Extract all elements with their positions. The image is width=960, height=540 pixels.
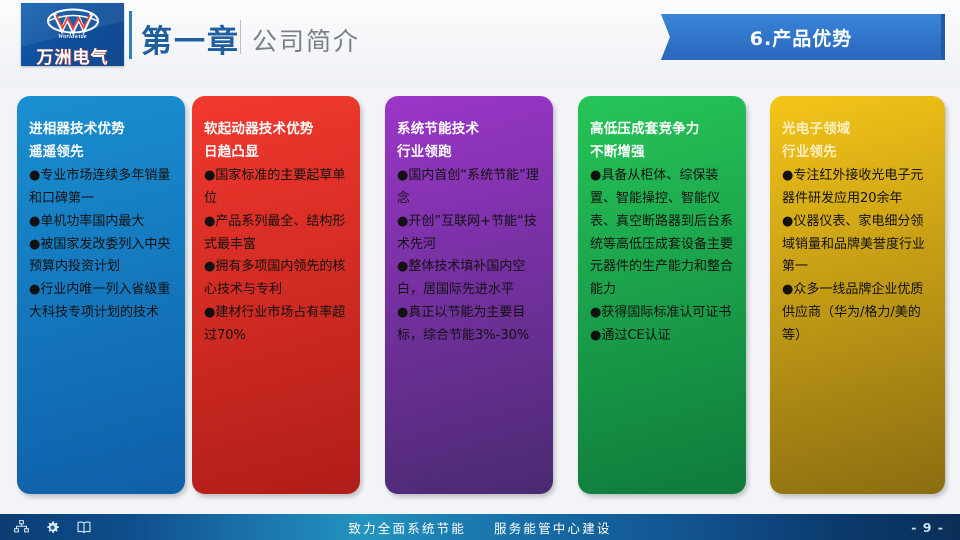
card-title-line: 进相器技术优势	[29, 118, 173, 141]
card-title: 进相器技术优势 遥遥领先	[29, 118, 173, 164]
card-bullet: ●专业市场连续多年销量和口碑第一	[29, 165, 173, 211]
card-title-line: 软起动器技术优势	[204, 118, 348, 141]
card-title: 系统节能技术 行业领跑	[397, 118, 541, 164]
advantage-card: 系统节能技术 行业领跑 ●国内首创“系统节能”理念 ●开创”互联网+节能“技术先…	[385, 96, 553, 494]
card-bullet: ●专注红外接收光电子元器件研发应用20余年	[782, 165, 933, 211]
card-bullet: ●国内首创“系统节能”理念	[397, 165, 541, 211]
card-body: ●专注红外接收光电子元器件研发应用20余年 ●仪器仪表、家电细分领域销量和品牌美…	[782, 165, 933, 347]
card-bullet: ●产品系列最全、结构形式最丰富	[204, 211, 348, 257]
advantage-card-list: 进相器技术优势 遥遥领先 ●专业市场连续多年销量和口碑第一 ●单机功率国内最大 …	[0, 96, 960, 496]
card-body: ●国内首创“系统节能”理念 ●开创”互联网+节能“技术先河 ●整体技术填补国内空…	[397, 165, 541, 347]
card-title: 软起动器技术优势 日趋凸显	[204, 118, 348, 164]
header-accent-bar	[129, 11, 132, 59]
slide-header: Worldwide 万洲电气 第一章 公司简介 6.产品优势	[0, 0, 960, 88]
card-bullet: ●通过CE认证	[590, 325, 734, 348]
card-bullet: ●行业内唯一列入省级重大科技专项计划的技术	[29, 279, 173, 325]
card-bullet: ●开创”互联网+节能“技术先河	[397, 211, 541, 257]
advantage-card: 进相器技术优势 遥遥领先 ●专业市场连续多年销量和口碑第一 ●单机功率国内最大 …	[17, 96, 185, 494]
card-title-line: 遥遥领先	[29, 141, 173, 164]
card-title-line: 系统节能技术	[397, 118, 541, 141]
card-bullet: ●拥有多项国内领先的核心技术与专利	[204, 256, 348, 302]
card-body: ●国家标准的主要起草单位 ●产品系列最全、结构形式最丰富 ●拥有多项国内领先的核…	[204, 165, 348, 347]
card-bullet: ●建材行业市场占有率超过70%	[204, 302, 348, 348]
card-title-line: 日趋凸显	[204, 141, 348, 164]
header-divider	[240, 20, 241, 54]
logo-chinese-name: 万洲电气	[21, 43, 124, 66]
page-number: - 9 -	[911, 514, 944, 540]
advantage-card: 光电子领域 行业领先 ●专注红外接收光电子元器件研发应用20余年 ●仪器仪表、家…	[770, 96, 945, 494]
card-bullet: ●国家标准的主要起草单位	[204, 165, 348, 211]
card-title-line: 不断增强	[590, 141, 734, 164]
logo-latin-name: Worldwide	[21, 34, 124, 40]
card-title-line: 行业领先	[782, 141, 933, 164]
chapter-title: 第一章	[141, 16, 240, 61]
card-bullet: ●众多一线品牌企业优质供应商（华为/格力/美的等）	[782, 279, 933, 347]
card-title-line: 行业领跑	[397, 141, 541, 164]
company-logo: Worldwide 万洲电气	[21, 3, 124, 66]
card-bullet: ●真正以节能为主要目标，综合节能3%-30%	[397, 302, 541, 348]
card-title: 高低压成套竞争力 不断增强	[590, 118, 734, 164]
card-body: ●具备从柜体、综保装置、智能操控、智能仪表、真空断路器到后台系统等高低压成套设备…	[590, 165, 734, 347]
globe-w-monogram-icon	[45, 8, 101, 35]
card-bullet: ●仪器仪表、家电细分领域销量和品牌美誉度行业第一	[782, 211, 933, 279]
card-bullet: ●被国家发改委列入中央预算内投资计划	[29, 234, 173, 280]
slide-footer: 致力全面系统节能 服务能管中心建设 - 9 -	[0, 514, 960, 540]
card-bullet: ●单机功率国内最大	[29, 211, 173, 234]
advantage-card: 高低压成套竞争力 不断增强 ●具备从柜体、综保装置、智能操控、智能仪表、真空断路…	[578, 96, 746, 494]
footer-slogan-left: 致力全面系统节能	[348, 518, 466, 537]
card-body: ●专业市场连续多年销量和口碑第一 ●单机功率国内最大 ●被国家发改委列入中央预算…	[29, 165, 173, 324]
footer-slogan-right: 服务能管中心建设	[494, 518, 612, 537]
section-banner: 6.产品优势	[661, 14, 941, 60]
footer-slogan: 致力全面系统节能 服务能管中心建设	[0, 514, 960, 540]
card-title: 光电子领域 行业领先	[782, 118, 933, 164]
card-title-line: 光电子领域	[782, 118, 933, 141]
card-title-line: 高低压成套竞争力	[590, 118, 734, 141]
advantage-card: 软起动器技术优势 日趋凸显 ●国家标准的主要起草单位 ●产品系列最全、结构形式最…	[192, 96, 360, 494]
page-subtitle: 公司简介	[252, 22, 360, 58]
card-bullet: ●获得国际标准认可证书	[590, 302, 734, 325]
card-bullet: ●整体技术填补国内空白，居国际先进水平	[397, 256, 541, 302]
card-bullet: ●具备从柜体、综保装置、智能操控、智能仪表、真空断路器到后台系统等高低压成套设备…	[590, 165, 734, 302]
